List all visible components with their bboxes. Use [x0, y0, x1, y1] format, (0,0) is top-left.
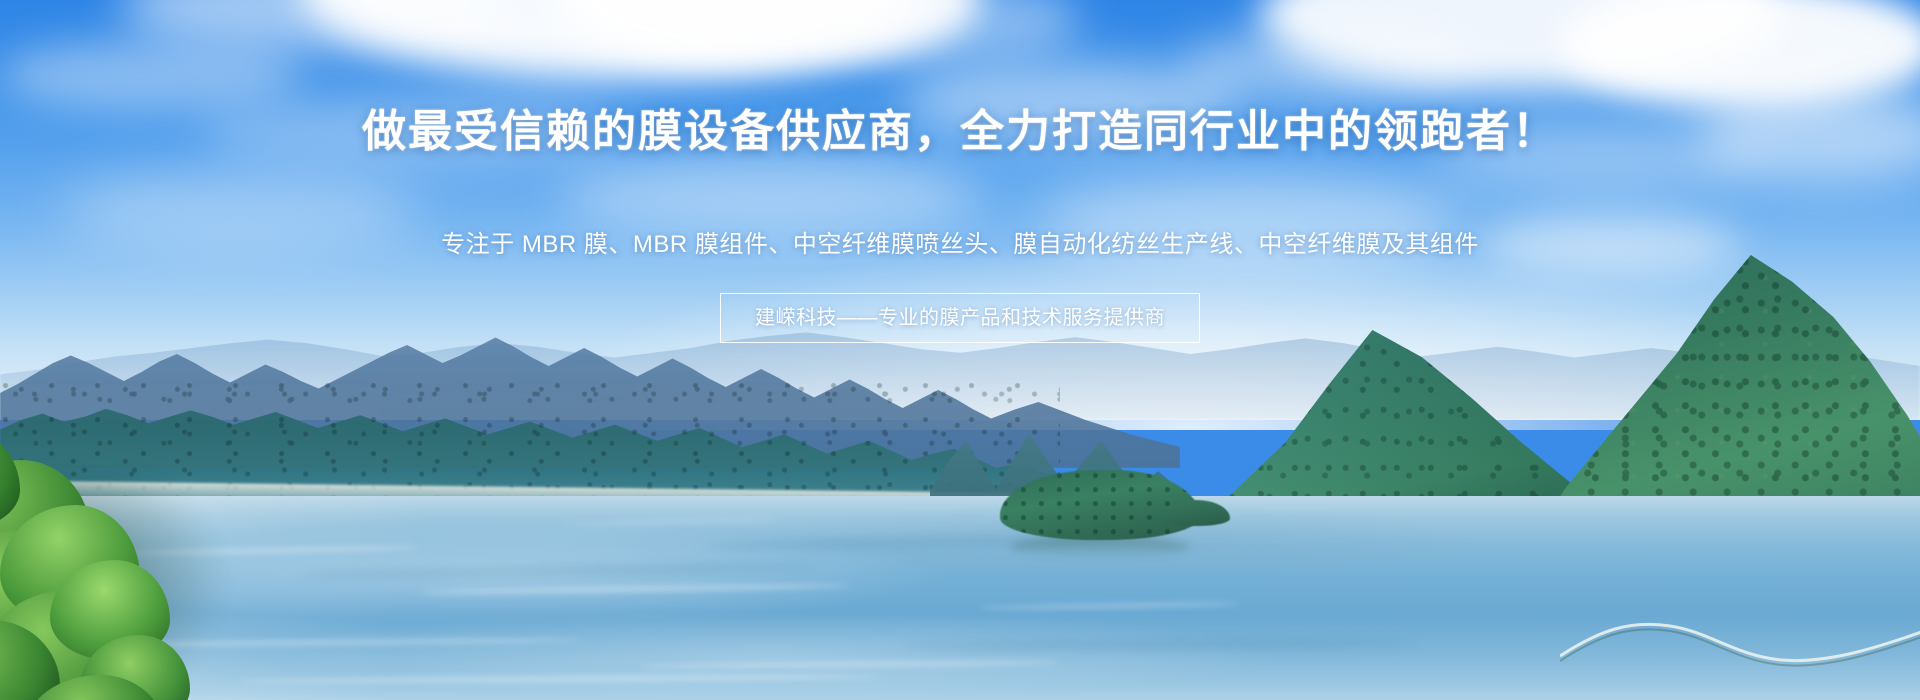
cloud	[560, 155, 980, 235]
foreground-tree	[0, 420, 260, 700]
banner-headline: 做最受信赖的膜设备供应商，全力打造同行业中的领跑者！	[0, 104, 1920, 160]
hero-banner: 做最受信赖的膜设备供应商，全力打造同行业中的领跑者！ 专注于 MBR 膜、MBR…	[0, 0, 1920, 700]
lake-reflection-sheen	[0, 496, 1920, 700]
tagline-container: 建嵘科技——专业的膜产品和技术服务提供商	[0, 293, 1920, 343]
banner-subtitle: 专注于 MBR 膜、MBR 膜组件、中空纤维膜喷丝头、膜自动化纺丝生产线、中空纤…	[0, 228, 1920, 262]
cloud	[0, 40, 300, 110]
banner-tagline: 建嵘科技——专业的膜产品和技术服务提供商	[720, 293, 1200, 343]
